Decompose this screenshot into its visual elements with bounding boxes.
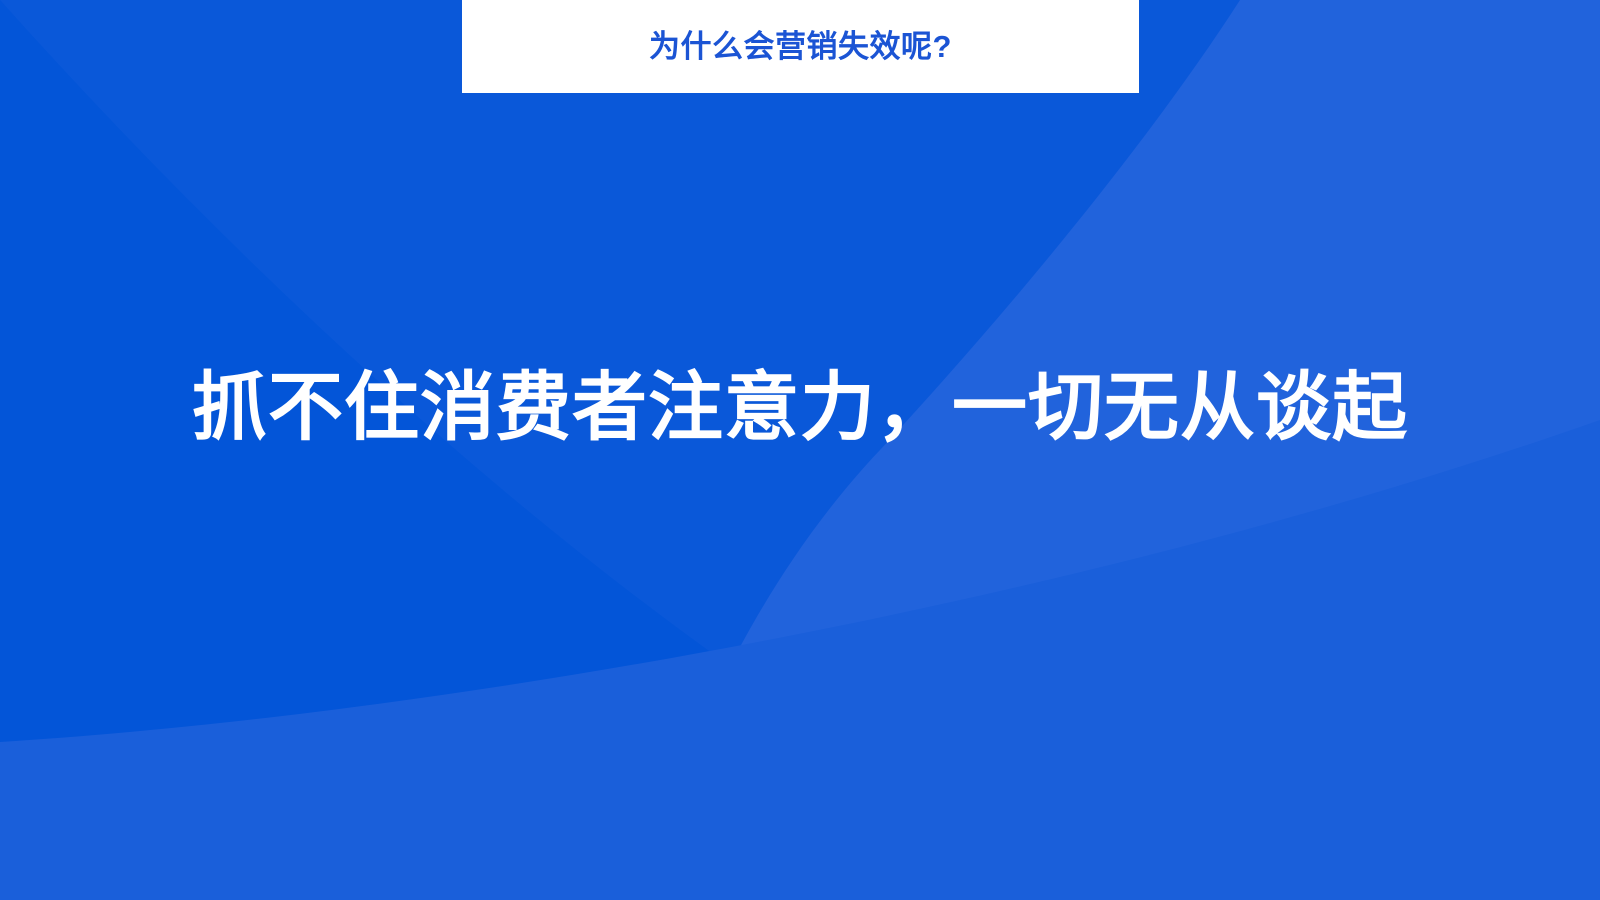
headline-container: 抓不住消费者注意力，一切无从谈起 xyxy=(0,352,1600,462)
header-banner: 为什么会营销失效呢? xyxy=(462,0,1139,93)
page-title: 为什么会营销失效呢? xyxy=(649,31,952,62)
main-headline: 抓不住消费者注意力，一切无从谈起 xyxy=(192,366,1408,449)
presentation-slide: 为什么会营销失效呢? 抓不住消费者注意力，一切无从谈起 xyxy=(0,0,1600,900)
